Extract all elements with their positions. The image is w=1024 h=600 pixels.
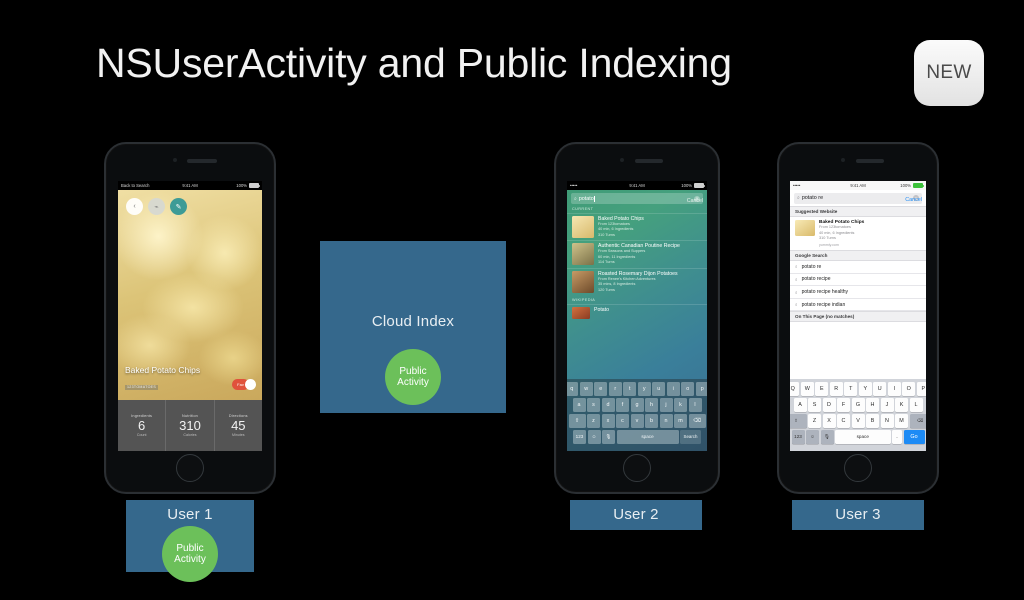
key-C[interactable]: C	[837, 414, 850, 428]
key-v[interactable]: v	[631, 414, 644, 428]
stat-unit: Calories	[183, 433, 196, 437]
phone1-status-bar: Back to Search 9:41 AM 100%	[118, 181, 262, 190]
key-w[interactable]: w	[580, 382, 593, 396]
recipe-photo: ‹ ⌁ ✎ Baked Potato Chips 123TOMATOES Fav	[118, 190, 262, 400]
stat-value: 45	[231, 419, 245, 432]
wiki-title: Potato	[594, 307, 609, 313]
keyboard-row-4: 123 ☺ 🎙 space . Go	[792, 430, 925, 444]
phone-user2: ••••• 9:41 AM 100% ⌕ potato ✕ Cancel CUR…	[554, 142, 720, 494]
home-button[interactable]	[176, 454, 204, 482]
list-item[interactable]: ⌕ potato recipe	[790, 274, 926, 287]
battery-icon	[249, 183, 259, 188]
result-text: Roasted Rosemary Dijon Potatoes From Ren…	[598, 271, 678, 294]
key-x[interactable]: x	[602, 414, 615, 428]
key-U[interactable]: U	[873, 382, 886, 396]
key-t[interactable]: t	[623, 382, 636, 396]
key-j[interactable]: j	[660, 398, 673, 412]
recipe-title: Baked Potato Chips	[125, 365, 255, 375]
speaker-grille	[856, 159, 884, 163]
recipe-source: 123TOMATOES	[125, 385, 158, 390]
stat-nutrition[interactable]: Nutrition 310 Calories	[166, 400, 214, 451]
public-activity-line1: Public	[399, 366, 426, 378]
result-thumbnail	[572, 271, 594, 293]
phone2-status-bar: ••••• 9:41 AM 100%	[567, 181, 707, 190]
key-o[interactable]: o	[681, 382, 694, 396]
public-activity-user1: Public Activity	[162, 526, 218, 582]
search-icon: ⌕	[795, 277, 798, 282]
result-turns: 310 Turns	[598, 233, 644, 239]
list-item[interactable]: Authentic Canadian Poutine Recipe From S…	[567, 240, 707, 268]
safari-search-field[interactable]: ⌕ potato re ✕	[794, 193, 922, 204]
cancel-button[interactable]: Cancel	[905, 197, 922, 203]
status-time: 9:41 AM	[629, 183, 644, 188]
search-icon: ⌕	[574, 196, 577, 202]
space-key[interactable]: space	[835, 430, 891, 444]
key-I[interactable]: I	[888, 382, 901, 396]
key-J[interactable]: J	[881, 398, 894, 412]
stat-unit: Count	[137, 433, 147, 437]
back-icon[interactable]: ‹	[126, 198, 143, 215]
public-activity-line2: Activity	[397, 377, 429, 389]
stat-value: 6	[138, 419, 145, 432]
numbers-key[interactable]: 123	[573, 430, 586, 444]
result-text: Baked Potato Chips From 123tomatoes 40 m…	[598, 216, 644, 239]
search-key[interactable]: Search	[680, 430, 701, 444]
search-query: potato	[579, 196, 594, 202]
key-N[interactable]: N	[881, 414, 894, 428]
key-M[interactable]: M	[895, 414, 908, 428]
camera-icon	[620, 158, 624, 162]
microphone-icon[interactable]: 🎙	[821, 430, 834, 444]
google-search-header: Google Search	[790, 250, 926, 261]
speaker-grille	[635, 159, 663, 163]
status-right: 100%	[681, 183, 704, 188]
wiki-thumbnail	[572, 307, 590, 319]
slide-canvas: NSUserActivity and Public Indexing NEW B…	[0, 0, 1024, 600]
keyboard-row-1: Q W E R T Y U I O P	[792, 382, 925, 396]
phone2-screen: ••••• 9:41 AM 100% ⌕ potato ✕ Cancel CUR…	[567, 181, 707, 451]
key-p[interactable]: p	[696, 382, 707, 396]
battery-icon	[694, 183, 704, 188]
key-l[interactable]: l	[689, 398, 702, 412]
result-title: Baked Potato Chips	[598, 216, 644, 222]
key-m[interactable]: m	[674, 414, 687, 428]
key-g[interactable]: g	[631, 398, 644, 412]
keyboard-row-4: 123 ☺ 🎙 space Search	[569, 430, 706, 444]
phone1-screen: Back to Search 9:41 AM 100% ‹ ⌁ ✎ Baked …	[118, 181, 262, 451]
key-h[interactable]: h	[645, 398, 658, 412]
key-A[interactable]: A	[794, 398, 807, 412]
key-u[interactable]: u	[652, 382, 665, 396]
numbers-key[interactable]: 123	[792, 430, 805, 444]
onscreen-keyboard[interactable]: q w e r t y u i o p a s d f g h	[567, 379, 707, 451]
speaker-grille	[187, 159, 217, 163]
key-T[interactable]: T	[844, 382, 857, 396]
phone3-screen: ••••• 9:41 AM 100% ⌕ potato re ✕ Cancel …	[790, 181, 926, 451]
text-caret	[594, 196, 595, 202]
key-R[interactable]: R	[830, 382, 843, 396]
status-carrier: •••••	[793, 183, 800, 188]
suggestion-label: potato recipe indian	[802, 302, 846, 308]
public-activity-cloud: Public Activity	[385, 349, 441, 405]
suggested-website-header: Suggested Website	[790, 206, 926, 217]
result-turns: 114 Turns	[598, 260, 680, 266]
search-icon: ⌕	[795, 264, 798, 269]
edit-icon[interactable]: ✎	[170, 198, 187, 215]
delete-key[interactable]: ⌫	[910, 414, 927, 428]
key-c[interactable]: c	[616, 414, 629, 428]
list-item[interactable]: ⌕ potato recipe indian	[790, 299, 926, 312]
result-thumbnail	[572, 243, 594, 265]
suggestion-label: potato re	[802, 264, 822, 270]
key-K[interactable]: K	[895, 398, 908, 412]
list-item[interactable]: Potato	[567, 304, 707, 321]
status-battery-percent: 100%	[900, 183, 911, 188]
status-right: 100%	[236, 183, 259, 188]
delete-key[interactable]: ⌫	[689, 414, 706, 428]
suggestion-label: potato recipe	[802, 276, 831, 282]
onscreen-keyboard[interactable]: Q W E R T Y U I O P A S D F G H	[790, 379, 926, 451]
space-key[interactable]: space	[617, 430, 679, 444]
result-turns: 310 Turns	[819, 236, 864, 242]
list-item[interactable]: Baked Potato Chips From 123tomatoes 40 m…	[790, 217, 926, 250]
status-time: 9:41 AM	[182, 183, 197, 188]
key-H[interactable]: H	[866, 398, 879, 412]
key-s[interactable]: s	[587, 398, 600, 412]
globe-icon[interactable]: ☺	[806, 430, 819, 444]
list-item[interactable]: ⌕ potato re	[790, 261, 926, 274]
key-E[interactable]: E	[815, 382, 828, 396]
stat-directions[interactable]: Directions 45 Minutes	[215, 400, 262, 451]
key-f[interactable]: f	[616, 398, 629, 412]
keyboard-row-3: ⇧ Z X C V B N M ⌫	[792, 414, 925, 428]
user2-label: User 2	[613, 500, 658, 530]
key-a[interactable]: a	[573, 398, 586, 412]
spotlight-search-field[interactable]: ⌕ potato ✕	[571, 193, 703, 204]
result-thumbnail	[795, 220, 815, 236]
key-X[interactable]: X	[823, 414, 836, 428]
status-battery-percent: 100%	[681, 183, 692, 188]
keyboard-row-3: ⇧ z x c v b n m ⌫	[569, 414, 706, 428]
phone-user1: Back to Search 9:41 AM 100% ‹ ⌁ ✎ Baked …	[104, 142, 276, 494]
phone3-status-bar: ••••• 9:41 AM 100%	[790, 181, 926, 190]
shift-key[interactable]: ⇧	[790, 414, 807, 428]
result-turns: 120 Turns	[598, 288, 678, 294]
key-e[interactable]: e	[594, 382, 607, 396]
share-icon[interactable]: ⌁	[148, 198, 165, 215]
user2-box: User 2	[570, 500, 702, 530]
shift-key[interactable]: ⇧	[569, 414, 586, 428]
key-F[interactable]: F	[837, 398, 850, 412]
keyboard-row-1: q w e r t y u i o p	[569, 382, 706, 396]
search-icon: ⌕	[795, 290, 798, 295]
key-G[interactable]: G	[852, 398, 865, 412]
keyboard-row-2: a s d f g h j k l	[569, 398, 706, 412]
battery-icon	[913, 183, 923, 188]
search-icon: ⌕	[797, 195, 800, 201]
home-button[interactable]	[844, 454, 872, 482]
key-k[interactable]: k	[674, 398, 687, 412]
key-b[interactable]: b	[645, 414, 658, 428]
result-text: Authentic Canadian Poutine Recipe From S…	[598, 243, 680, 266]
key-n[interactable]: n	[660, 414, 673, 428]
letterbox-bottom	[0, 592, 1024, 600]
key-B[interactable]: B	[866, 414, 879, 428]
key-W[interactable]: W	[801, 382, 814, 396]
spotlight-wikipedia-header: WIKIPEDIA	[567, 295, 707, 304]
stat-unit: Minutes	[232, 433, 245, 437]
search-query: potato re	[802, 195, 823, 201]
key-i[interactable]: i	[667, 382, 680, 396]
home-button[interactable]	[623, 454, 651, 482]
key-d[interactable]: d	[602, 398, 615, 412]
key-D[interactable]: D	[823, 398, 836, 412]
period-key[interactable]: .	[892, 430, 902, 444]
favorite-knob[interactable]	[245, 379, 256, 390]
camera-icon	[173, 158, 177, 162]
globe-icon[interactable]: ☺	[588, 430, 601, 444]
list-item[interactable]: Roasted Rosemary Dijon Potatoes From Ren…	[567, 268, 707, 296]
keyboard-row-2: A S D F G H J K L	[792, 398, 925, 412]
status-carrier: •••••	[570, 183, 577, 188]
letterbox-top	[0, 0, 1024, 8]
user3-box: User 3	[792, 500, 924, 530]
key-V[interactable]: V	[852, 414, 865, 428]
list-item[interactable]: Baked Potato Chips From 123tomatoes 40 m…	[567, 213, 707, 241]
key-y[interactable]: y	[638, 382, 651, 396]
stat-ingredients[interactable]: Ingredients 6 Count	[118, 400, 166, 451]
stat-value: 310	[179, 419, 201, 432]
key-L[interactable]: L	[910, 398, 923, 412]
key-O[interactable]: O	[902, 382, 915, 396]
result-thumbnail	[572, 216, 594, 238]
key-P[interactable]: P	[917, 382, 926, 396]
key-q[interactable]: q	[567, 382, 578, 396]
wiki-text: Potato	[594, 307, 609, 319]
public-activity-line2: Activity	[174, 554, 206, 566]
recipe-stats-bar: Ingredients 6 Count Nutrition 310 Calori…	[118, 400, 262, 451]
list-item[interactable]: ⌕ potato recipe healthy	[790, 286, 926, 299]
key-z[interactable]: z	[587, 414, 600, 428]
photo-action-buttons: ‹ ⌁ ✎	[126, 198, 187, 215]
search-icon: ⌕	[795, 302, 798, 307]
key-Q[interactable]: Q	[790, 382, 799, 396]
on-this-page-header: On This Page (no matches)	[790, 311, 926, 322]
status-right: 100%	[900, 183, 923, 188]
user3-label: User 3	[835, 500, 880, 530]
key-Z[interactable]: Z	[808, 414, 821, 428]
go-key[interactable]: Go	[904, 430, 925, 444]
result-url: yummly.com	[819, 243, 864, 247]
result-text: Baked Potato Chips From 123tomatoes 40 m…	[819, 220, 864, 247]
cancel-button[interactable]: Cancel	[687, 198, 703, 204]
status-back-label[interactable]: Back to Search	[121, 183, 149, 188]
status-time: 9:41 AM	[850, 183, 865, 188]
spotlight-section-header: CURRENT	[567, 204, 707, 213]
new-badge: NEW	[914, 40, 984, 106]
result-title: Roasted Rosemary Dijon Potatoes	[598, 271, 678, 277]
microphone-icon[interactable]: 🎙	[602, 430, 615, 444]
suggestion-label: potato recipe healthy	[802, 289, 848, 295]
phone-user3: ••••• 9:41 AM 100% ⌕ potato re ✕ Cancel …	[777, 142, 939, 494]
key-r[interactable]: r	[609, 382, 622, 396]
page-title: NSUserActivity and Public Indexing	[96, 40, 732, 87]
key-S[interactable]: S	[808, 398, 821, 412]
favorite-control[interactable]: Fav	[232, 379, 256, 390]
status-battery-percent: 100%	[236, 183, 247, 188]
camera-icon	[841, 158, 845, 162]
key-Y[interactable]: Y	[859, 382, 872, 396]
public-activity-line1: Public	[176, 543, 203, 555]
